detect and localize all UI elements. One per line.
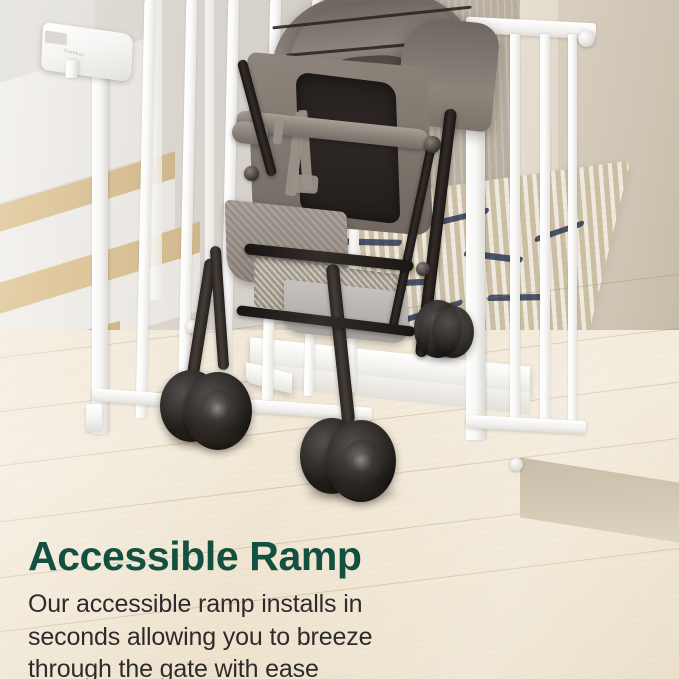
stroller-wheel-hub bbox=[342, 440, 382, 484]
wheel-shadow bbox=[168, 432, 254, 448]
stroller-wheel-hub-core bbox=[210, 402, 228, 420]
stroller-wheel bbox=[432, 306, 474, 358]
headline: Accessible Ramp bbox=[28, 534, 498, 578]
gate-frame-post-left bbox=[92, 42, 108, 434]
gate-extension-bar bbox=[540, 34, 550, 426]
body-copy: Our accessible ramp installs in seconds … bbox=[28, 588, 448, 679]
stroller-harness-buckle bbox=[291, 174, 318, 194]
stroller-frame-hinge bbox=[244, 166, 259, 181]
stroller-frame-hinge bbox=[416, 262, 430, 276]
gate-extension-bar bbox=[510, 34, 520, 430]
latch-brand-label: Cumbor bbox=[63, 48, 84, 59]
marketing-copy-block: Accessible Ramp Our accessible ramp inst… bbox=[28, 534, 498, 679]
gate-extension-bar bbox=[568, 34, 577, 422]
stroller-seat-pad bbox=[296, 71, 401, 224]
gate-foot bbox=[86, 404, 102, 432]
latch-stem bbox=[65, 60, 78, 78]
wheel-shadow bbox=[306, 486, 398, 502]
pressure-mount-knob[interactable] bbox=[578, 30, 595, 47]
stroller-wheel-hub-core bbox=[353, 453, 372, 472]
pressure-mount-knob[interactable] bbox=[510, 458, 523, 471]
product-lifestyle-scene: Cumbor bbox=[0, 0, 679, 679]
stroller-wheel-hub bbox=[200, 390, 238, 432]
stroller-frame-hinge bbox=[424, 136, 441, 153]
